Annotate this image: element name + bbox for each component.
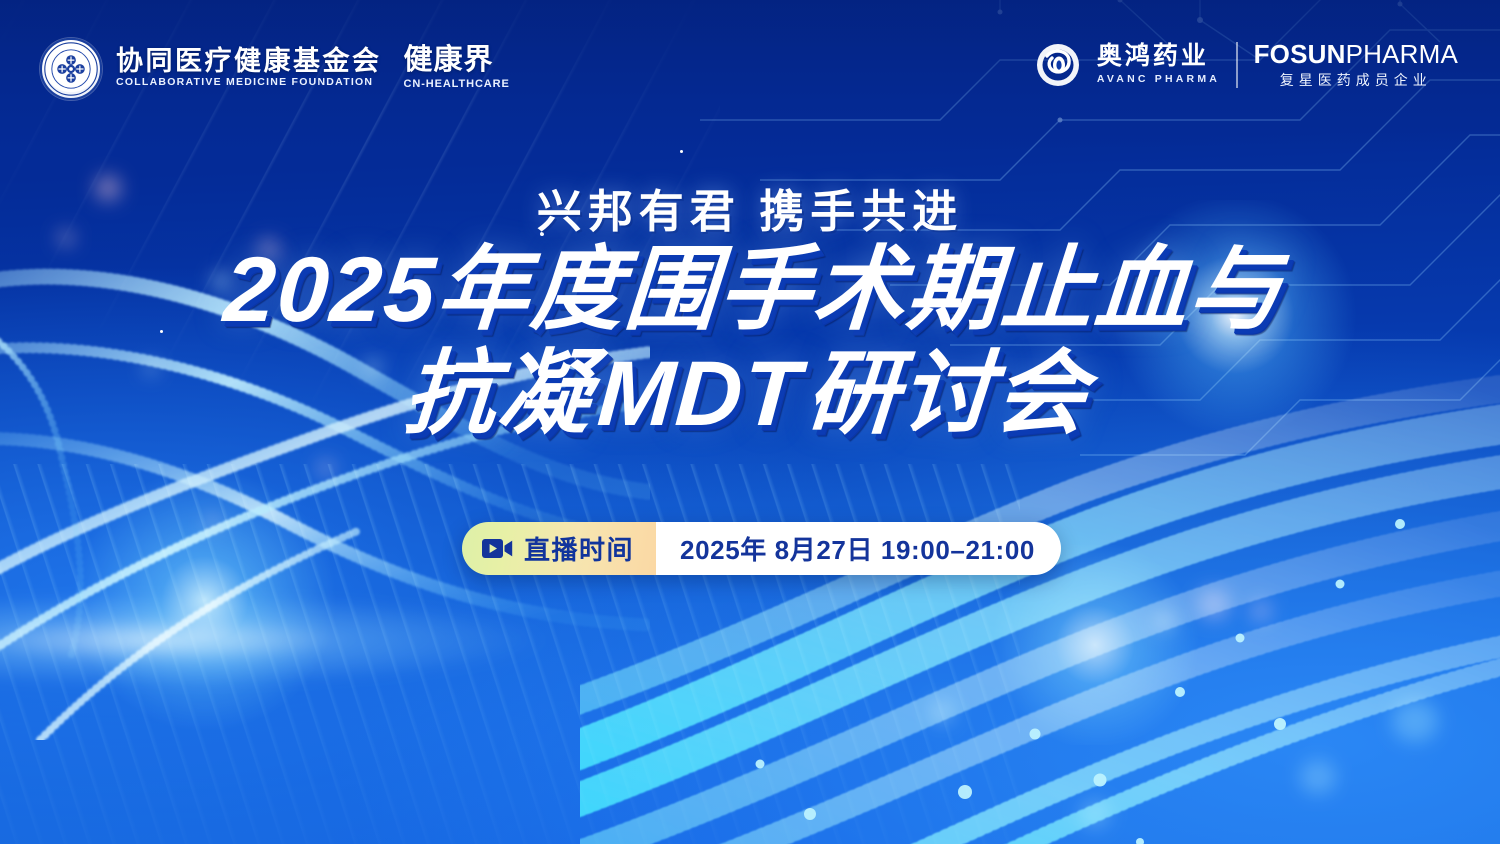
fosun-wordmark: FOSUNPHARMA <box>1254 40 1458 69</box>
live-schedule-label: 直播时间 <box>524 530 634 567</box>
sponsor-logo-group: 奥鸿药业 AVANC PHARMA FOSUNPHARMA 复星医药成员企业 <box>1035 40 1458 91</box>
foundation-seal-icon <box>40 38 102 100</box>
fosun-name-cn: 复星医药成员企业 <box>1254 69 1458 91</box>
avanc-name-en: AVANC PHARMA <box>1097 71 1220 88</box>
partner-name-cn: 健康界 <box>404 46 510 76</box>
video-camera-icon <box>482 538 513 559</box>
live-schedule-value-section: 2025年 8月27日 19:00–21:00 <box>656 522 1061 575</box>
partner-name-en: CN-HEALTHCARE <box>404 76 510 93</box>
foundation-logo-group: 协同医疗健康基金会 COLLABORATIVE MEDICINE FOUNDAT… <box>40 38 510 100</box>
fosun-light-text: PHARMA <box>1346 39 1458 69</box>
live-schedule-pill[interactable]: 直播时间 2025年 8月27日 19:00–21:00 <box>462 522 1061 575</box>
horizon-glow <box>0 575 860 705</box>
live-schedule-label-section: 直播时间 <box>462 522 656 575</box>
fosun-bold-text: FOSUN <box>1254 39 1346 69</box>
foundation-name-cn: 协同医疗健康基金会 <box>116 47 382 75</box>
avanc-name-cn: 奥鸿药业 <box>1097 43 1220 71</box>
live-schedule-datetime: 2025年 8月27日 19:00–21:00 <box>680 530 1035 567</box>
foundation-name-en: COLLABORATIVE MEDICINE FOUNDATION <box>116 75 382 91</box>
logo-divider <box>1236 42 1238 88</box>
event-banner: 协同医疗健康基金会 COLLABORATIVE MEDICINE FOUNDAT… <box>0 0 1500 844</box>
avanc-pharma-mark-icon <box>1035 42 1081 88</box>
